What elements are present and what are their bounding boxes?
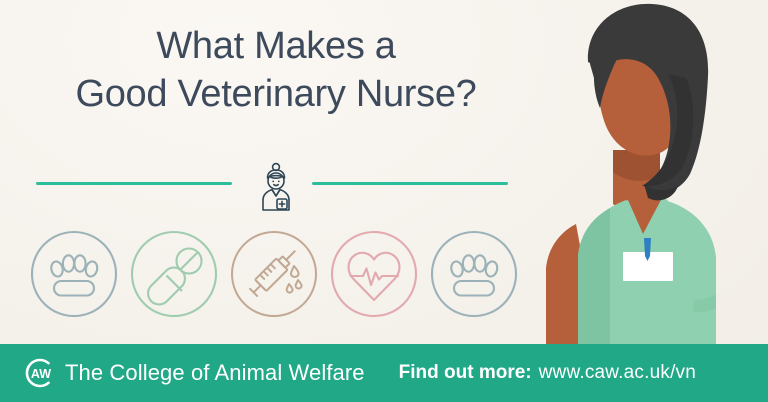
veterinary-nurse-illustration	[518, 0, 768, 346]
paw-print-icon	[28, 228, 120, 320]
page-title: What Makes a Good Veterinary Nurse?	[0, 22, 552, 118]
caw-logo-name: The College of Animal Welfare	[65, 360, 365, 386]
find-out-more-cta[interactable]: Find out more: www.caw.ac.uk/vn	[399, 362, 696, 384]
nurse-icon	[256, 160, 296, 220]
icon-row	[28, 228, 528, 324]
divider-line-left	[36, 182, 232, 185]
caw-logo-mark-text: AW	[31, 367, 51, 381]
caw-logo-icon: AW	[24, 357, 56, 389]
cta-prefix: Find out more:	[399, 362, 532, 384]
paw-print-icon-2	[428, 228, 520, 320]
headline-line-1: What Makes a	[0, 22, 552, 70]
divider-row	[0, 160, 552, 220]
divider-line-right	[312, 182, 508, 185]
footer-bar: AW The College of Animal Welfare Find ou…	[0, 344, 768, 402]
syringe-icon	[228, 228, 320, 320]
cta-url[interactable]: www.caw.ac.uk/vn	[539, 362, 696, 384]
heartbeat-icon	[328, 228, 420, 320]
headline-line-2: Good Veterinary Nurse?	[0, 70, 552, 118]
caw-logo[interactable]: AW The College of Animal Welfare	[24, 357, 365, 389]
caw-promo-banner: What Makes a Good Veterinary Nurse?	[0, 0, 768, 402]
pills-icon	[128, 228, 220, 320]
